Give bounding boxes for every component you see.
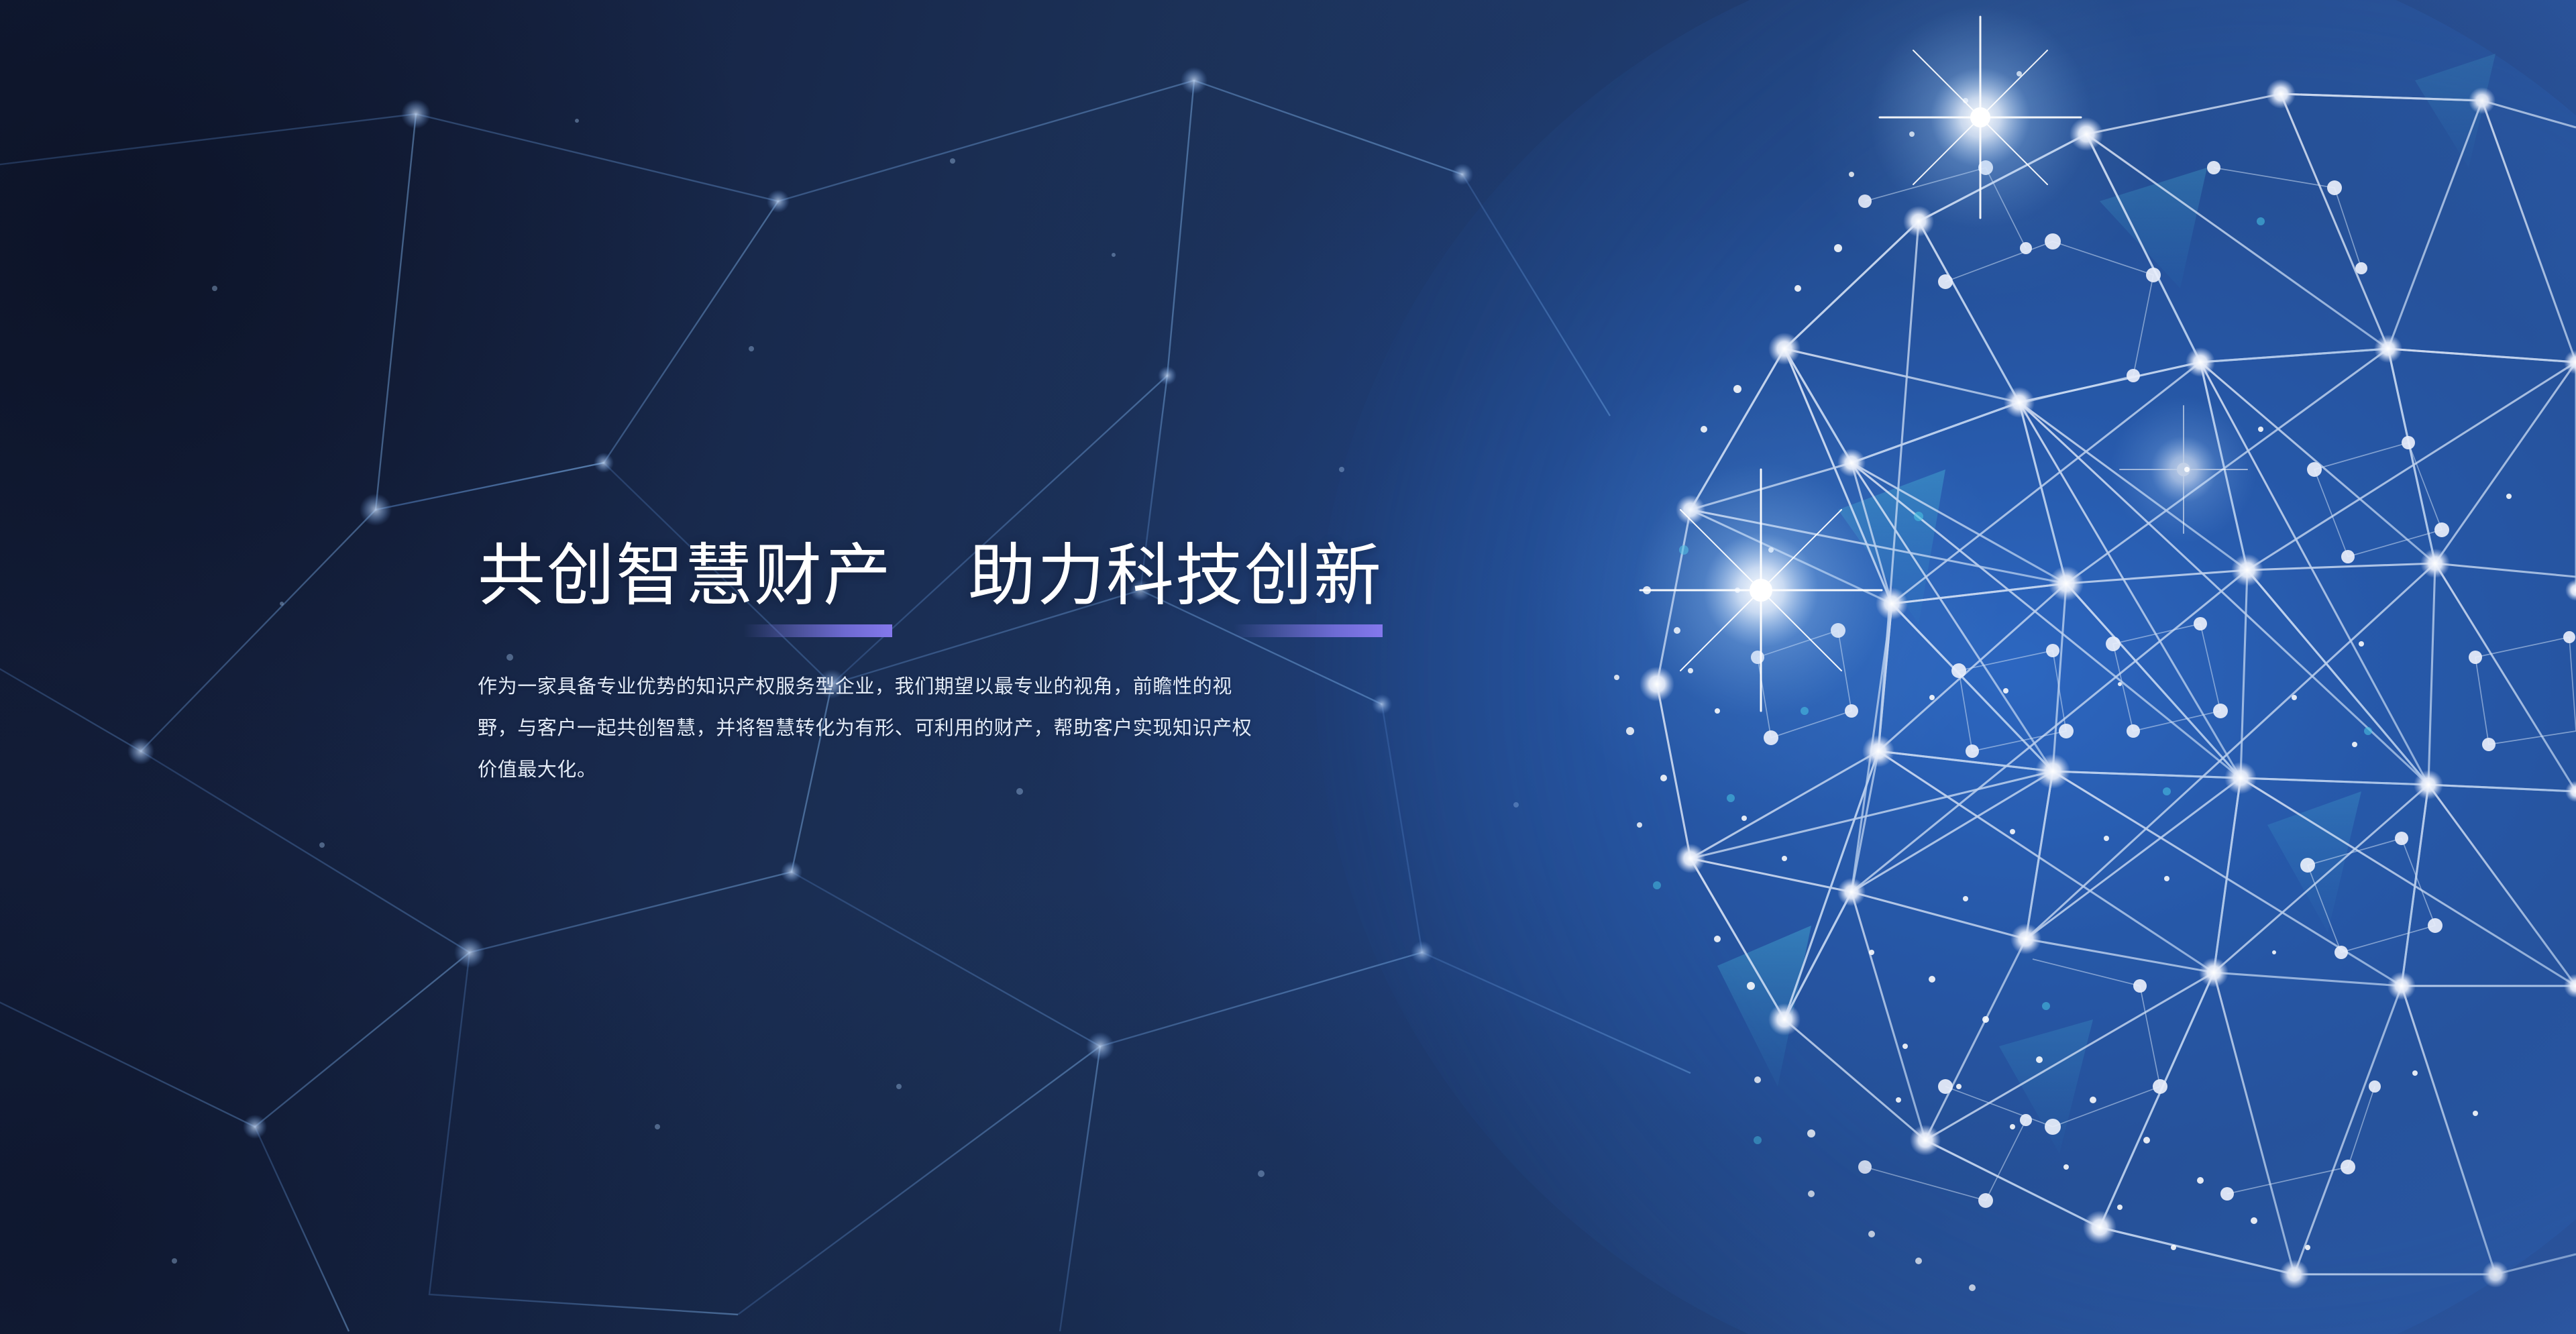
headline: 共创智慧财产 助力科技创新 <box>478 541 1430 612</box>
hero-copy: 共创智慧财产 助力科技创新 作为一家具备专业优势的知识产权服务型企业，我们期望以… <box>478 541 1430 810</box>
headline-accent-rule-2 <box>1234 624 1383 637</box>
star-flare-icon <box>2110 396 2257 543</box>
headline-part-1: 共创智慧财产 <box>478 541 892 612</box>
headline-accent-rule-1 <box>743 624 892 637</box>
hero-banner: 共创智慧财产 助力科技创新 作为一家具备专业优势的知识产权服务型企业，我们期望以… <box>0 0 2576 1334</box>
hero-description: 作为一家具备专业优势的知识产权服务型企业，我们期望以最专业的视角，前瞻性的视野，… <box>478 666 1256 791</box>
star-flare-icon <box>1870 7 2091 228</box>
headline-group-1: 共创智慧财产 <box>478 541 892 612</box>
headline-group-2: 助力科技创新 <box>968 541 1383 612</box>
star-flare-icon <box>1633 463 1888 718</box>
headline-part-2: 助力科技创新 <box>968 541 1383 612</box>
